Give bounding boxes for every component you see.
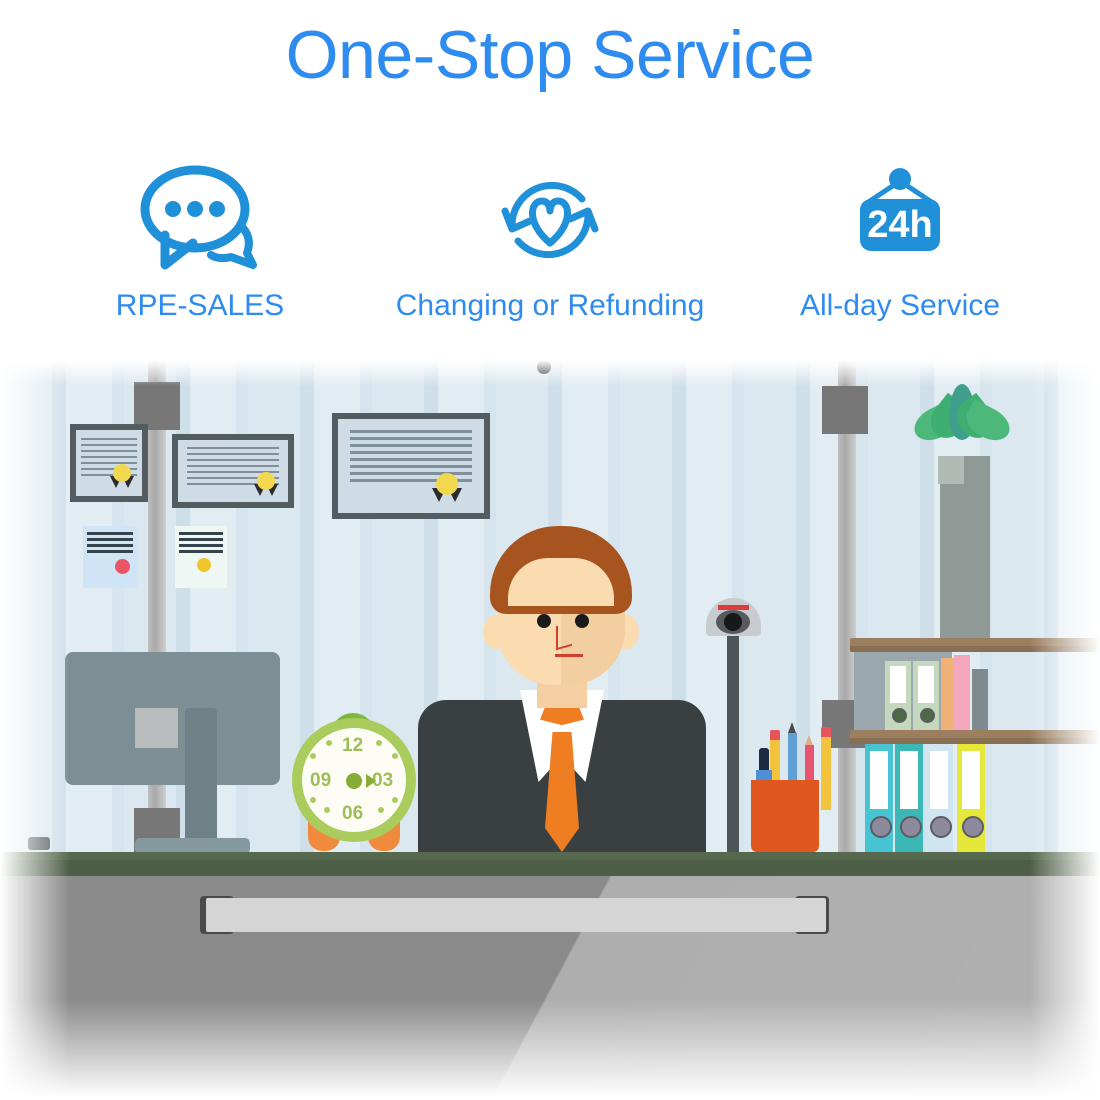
feature-changing-refunding[interactable]: Changing or Refunding: [375, 165, 725, 323]
binder-teal: [895, 744, 923, 852]
binder-lightblue: [925, 744, 953, 852]
wall-pole-left: [148, 360, 166, 860]
floor-strip-top: [0, 852, 1100, 860]
feature-all-day-service[interactable]: 24h All-day Service: [725, 165, 1075, 323]
clock-center-dot: [346, 773, 362, 789]
framed-certificate-large: [332, 413, 490, 519]
page-title: One-Stop Service: [0, 18, 1100, 93]
wall-pole-right: [838, 360, 856, 860]
security-camera-pole: [727, 628, 739, 860]
certificate-seal: [432, 473, 462, 503]
hanging-sign-24h-icon: 24h: [830, 165, 970, 275]
feature-label: All-day Service: [800, 289, 1000, 323]
sign-text-24h: 24h: [867, 204, 932, 246]
person-eye-right: [575, 614, 589, 628]
plant-pot-rim: [938, 456, 964, 484]
person-mouth: [555, 654, 583, 657]
clock-numeral-06: 06: [342, 803, 363, 825]
clock-hand-pointer: [366, 774, 376, 788]
poster-seal: [115, 559, 130, 574]
person-nose: [556, 622, 572, 651]
feature-rpe-sales[interactable]: RPE-SALES: [25, 165, 375, 323]
feature-label: Changing or Refunding: [396, 289, 705, 323]
framed-certificate-small: [70, 424, 148, 502]
exchange-heart-icon: [490, 165, 610, 275]
book-pink: [954, 655, 970, 730]
feature-label: RPE-SALES: [116, 289, 284, 323]
promo-banner: One-Stop Service RPE-SALES: [0, 0, 1100, 1100]
pole-mount-left-top: [134, 382, 180, 430]
binder-yellow: [957, 744, 985, 852]
person-eye-left: [537, 360, 551, 374]
book-orange: [941, 658, 954, 730]
office-illustration: 12 03 06 09: [0, 360, 1100, 1100]
monitor-mount: [135, 708, 178, 748]
binder-green-2: [913, 661, 939, 730]
book-gray: [972, 669, 988, 730]
wall-shelf-upper: [850, 638, 1100, 652]
pole-mount-right-top: [822, 386, 868, 434]
pencil-yellow-2: [821, 727, 831, 810]
clock-numeral-09: 09: [310, 770, 331, 792]
certificate-seal: [254, 472, 278, 496]
desk-panel: [206, 898, 826, 932]
binder-cyan: [865, 744, 893, 852]
desk-small-object: [28, 837, 50, 850]
security-camera-lens: [724, 613, 742, 631]
clock-numeral-12: 12: [342, 735, 363, 757]
wall-poster-white: [175, 526, 227, 588]
wall-poster-blue: [83, 526, 137, 588]
framed-certificate-medium: [172, 434, 294, 508]
feature-row: RPE-SALES Changing or Refunding: [0, 165, 1100, 323]
person-eye-left: [537, 614, 551, 628]
chat-bubbles-icon: [135, 165, 265, 275]
certificate-seal: [110, 464, 134, 488]
wall-shelf-lower: [850, 730, 1100, 744]
person-forehead: [508, 558, 614, 606]
pencil-holder: [751, 780, 819, 852]
binder-green-1: [885, 661, 911, 730]
monitor-neck: [185, 708, 217, 853]
poster-seal: [197, 558, 211, 572]
